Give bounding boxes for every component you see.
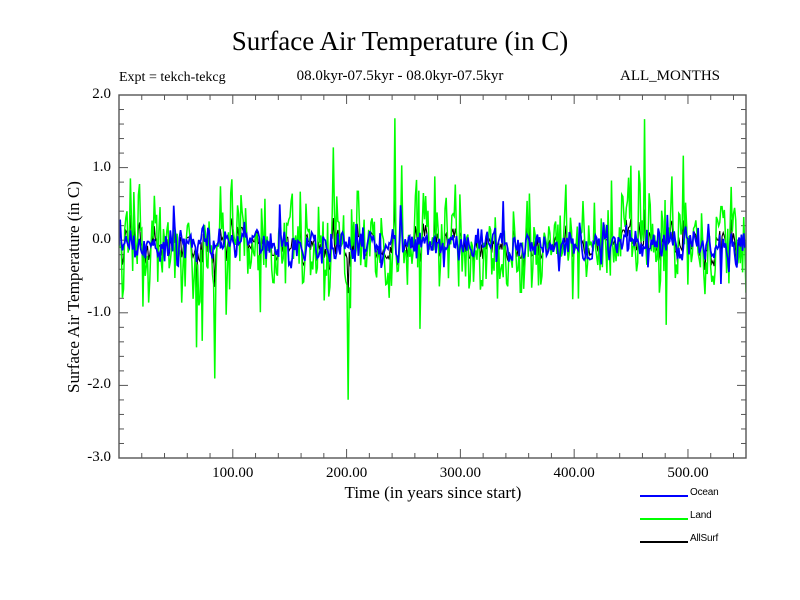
plot-page: Surface Air Temperature (in C) 08.0kyr-0… xyxy=(0,0,800,600)
legend-item: Land xyxy=(640,510,790,533)
legend-item: AllSurf xyxy=(640,533,790,556)
y-tick-label: 2.0 xyxy=(65,86,111,103)
legend-label: AllSurf xyxy=(690,533,718,544)
x-tick-label: 300.00 xyxy=(415,465,505,482)
legend-item: Ocean xyxy=(640,487,790,510)
y-tick-label: 0.0 xyxy=(65,231,111,248)
y-tick-label: -3.0 xyxy=(65,449,111,466)
y-tick-label: -1.0 xyxy=(65,304,111,321)
legend-label: Land xyxy=(690,510,711,521)
y-tick-label: 1.0 xyxy=(65,159,111,176)
x-tick-label: 200.00 xyxy=(302,465,392,482)
y-tick-label: -2.0 xyxy=(65,376,111,393)
x-tick-label: 500.00 xyxy=(643,465,733,482)
chart-legend: Ocean Land AllSurf xyxy=(640,487,790,556)
legend-swatch-allsurf xyxy=(640,541,688,543)
x-tick-label: 100.00 xyxy=(188,465,278,482)
legend-label: Ocean xyxy=(690,487,718,498)
x-tick-label: 400.00 xyxy=(529,465,619,482)
legend-swatch-land xyxy=(640,518,688,520)
legend-swatch-ocean xyxy=(640,495,688,497)
